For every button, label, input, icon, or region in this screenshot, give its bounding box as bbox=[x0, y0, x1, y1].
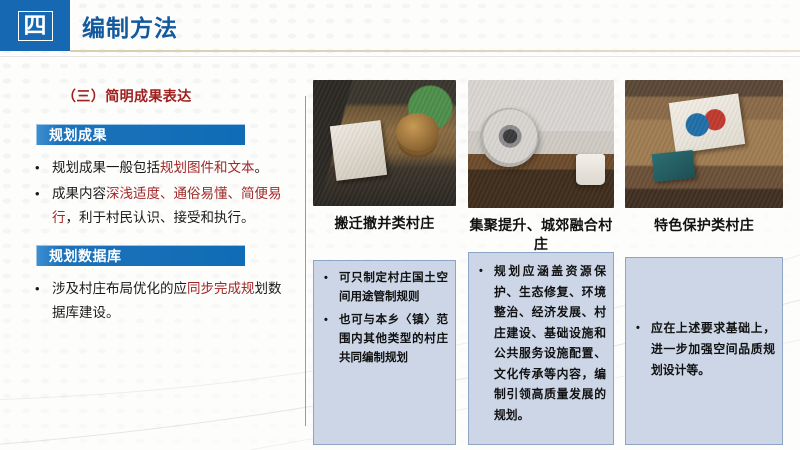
info-box-content: 可只制定村庄国土空间用途管制规则 也可与本乡〈镇〉范围内其他类型的村庄共同编制规… bbox=[321, 269, 448, 368]
info-box-village-heritage: 应在上述要求基础上，进一步加强空间品质规划设计等。 bbox=[625, 257, 783, 445]
vertical-divider bbox=[305, 96, 306, 426]
photo-grain-overlay bbox=[468, 80, 614, 208]
page-title: 编制方法 bbox=[82, 9, 178, 43]
bullet-text-plain-a: 成果内容 bbox=[52, 186, 106, 201]
list-item: 规划成果一般包括规划图件和文本。 bbox=[30, 156, 292, 180]
slide-root: 四 编制方法 （三）简明成果表达 规划成果 规划成果一般包括规划图件和文本。 成… bbox=[0, 0, 800, 450]
list-item: 可只制定村庄国土空间用途管制规则 bbox=[321, 269, 448, 307]
bullet-text-highlight: 规划图件和文本 bbox=[160, 160, 255, 175]
info-box-content: 应在上述要求基础上，进一步加强空间品质规划设计等。 bbox=[633, 318, 775, 385]
bullet-list-planning-database: 涉及村庄布局优化的应同步完成规划数据库建设。 bbox=[30, 277, 292, 327]
subsection-banner-planning-database: 规划数据库 bbox=[36, 245, 245, 266]
card-village-relocation: 搬迁撤并类村庄 bbox=[313, 80, 456, 233]
header-section-number-block: 四 bbox=[0, 0, 70, 51]
bullet-text-plain-a: 规划成果一般包括 bbox=[52, 160, 160, 175]
info-box-village-relocation: 可只制定村庄国土空间用途管制规则 也可与本乡〈镇〉范围内其他类型的村庄共同编制规… bbox=[313, 260, 456, 445]
photo-village-relocation bbox=[313, 80, 456, 206]
photo-village-heritage bbox=[625, 80, 783, 208]
left-content-column: （三）简明成果表达 规划成果 规划成果一般包括规划图件和文本。 成果内容深浅适度… bbox=[0, 56, 306, 450]
header-divider-gold bbox=[70, 50, 800, 52]
bullet-text-plain-b: 。 bbox=[255, 160, 269, 175]
card-village-heritage: 特色保护类村庄 bbox=[625, 80, 783, 235]
card-caption: 特色保护类村庄 bbox=[625, 216, 783, 235]
list-item: 规划应涵盖资源保护、生态修复、环境整治、经济发展、村庄建设、基础设施和公共服务设… bbox=[476, 261, 606, 425]
photo-village-suburban bbox=[468, 80, 614, 208]
bullet-list-planning-results: 规划成果一般包括规划图件和文本。 成果内容深浅适度、通俗易懂、简便易行，利于村民… bbox=[30, 156, 292, 232]
list-item: 成果内容深浅适度、通俗易懂、简便易行，利于村民认识、接受和执行。 bbox=[30, 182, 292, 230]
card-caption: 搬迁撤并类村庄 bbox=[313, 214, 456, 233]
info-box-content: 规划应涵盖资源保护、生态修复、环境整治、经济发展、村庄建设、基础设施和公共服务设… bbox=[476, 261, 606, 425]
subsection-banner-label-1: 规划成果 bbox=[49, 125, 107, 145]
subsection-banner-planning-results: 规划成果 bbox=[36, 124, 245, 145]
section-heading: （三）简明成果表达 bbox=[62, 86, 192, 106]
photo-grain-overlay bbox=[313, 80, 456, 206]
list-item: 涉及村庄布局优化的应同步完成规划数据库建设。 bbox=[30, 277, 292, 325]
bullet-text-highlight: 同步完成规 bbox=[187, 281, 255, 296]
photo-grain-overlay bbox=[625, 80, 783, 208]
info-box-village-suburban: 规划应涵盖资源保护、生态修复、环境整治、经济发展、村庄建设、基础设施和公共服务设… bbox=[468, 252, 614, 445]
bullet-text-plain-a: 涉及村庄布局优化的应 bbox=[52, 281, 187, 296]
subsection-banner-label-2: 规划数据库 bbox=[49, 246, 122, 266]
bullet-text-plain-b: ，利于村民认识、接受和执行。 bbox=[66, 210, 255, 225]
card-village-suburban: 集聚提升、城郊融合村庄 bbox=[468, 80, 614, 254]
list-item: 应在上述要求基础上，进一步加强空间品质规划设计等。 bbox=[633, 318, 775, 381]
card-caption: 集聚提升、城郊融合村庄 bbox=[468, 216, 614, 254]
header-section-number: 四 bbox=[18, 11, 53, 41]
list-item: 也可与本乡〈镇〉范围内其他类型的村庄共同编制规划 bbox=[321, 311, 448, 368]
